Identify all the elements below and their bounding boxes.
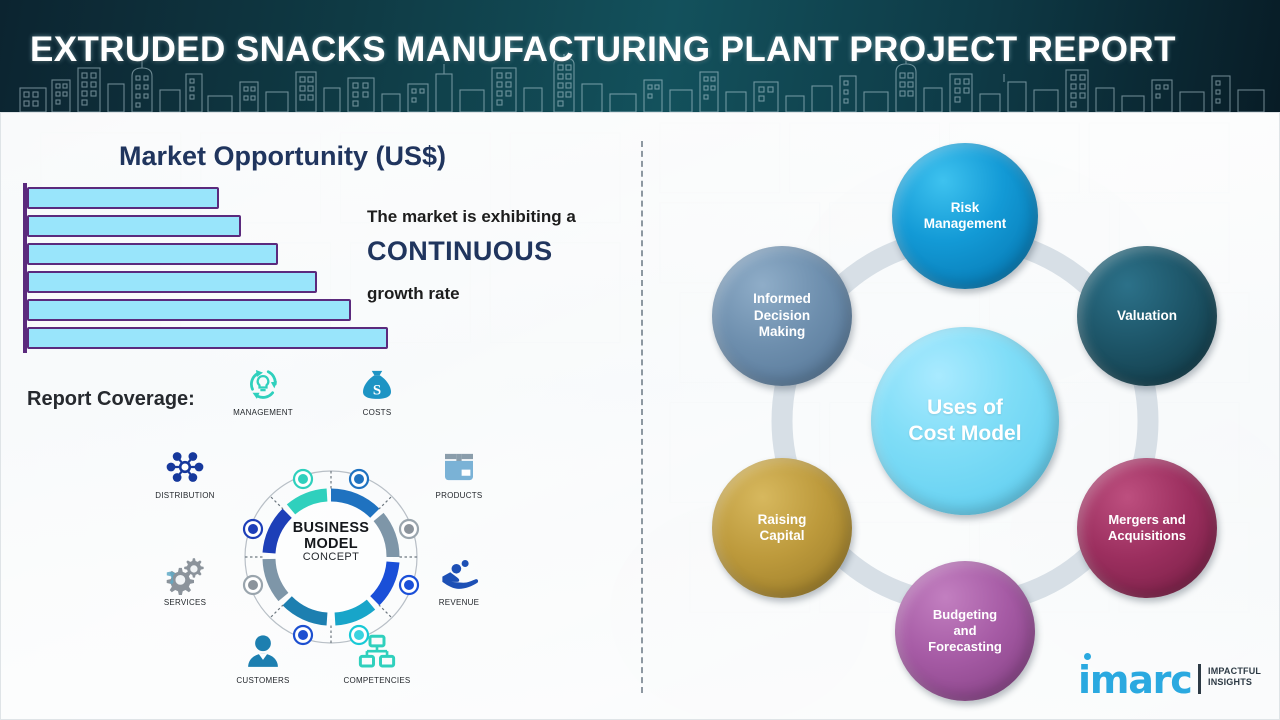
bm-label-distribution: DISTRIBUTION [137, 491, 233, 500]
bm-node-management: MANAGEMENT [215, 363, 311, 417]
bar-1 [27, 187, 219, 209]
imarc-tagline: IMPACTFUL INSIGHTS [1208, 666, 1261, 689]
node-mergers-acquisitions[interactable]: Mergers and Acquisitions [1077, 458, 1217, 598]
growth-text-line3: growth rate [367, 284, 460, 304]
node-informed-decision-making[interactable]: Informed Decision Making [712, 246, 852, 386]
budget-line2: and [953, 623, 976, 638]
gears-icon [164, 553, 206, 595]
bar-4 [27, 271, 317, 293]
bm-label-competencies: COMPETENCIES [329, 676, 425, 685]
business-model-center-text: BUSINESS MODEL CONCEPT [233, 521, 429, 564]
imarc-tagline-line2: INSIGHTS [1208, 677, 1261, 688]
imarc-logo-divider [1198, 664, 1201, 694]
bm-node-distribution: DISTRIBUTION [137, 446, 233, 500]
node-risk-management[interactable]: Risk Management [892, 143, 1038, 289]
node-label-risk-management: Risk Management [924, 200, 1007, 233]
node-label-raising-capital: Raising Capital [758, 512, 807, 545]
node-budgeting-forecasting[interactable]: Budgeting and Forecasting [895, 561, 1035, 701]
imarc-logo[interactable]: imarc IMPACTFUL INSIGHTS [1078, 661, 1192, 699]
informed-line1: Informed [753, 291, 811, 306]
business-model-ring: BUSINESS MODEL CONCEPT [233, 459, 429, 655]
slide-root: EXTRUDED SNACKS MANUFACTURING PLANT PROJ… [0, 0, 1280, 720]
bm-label-customers: CUSTOMERS [215, 676, 311, 685]
market-opportunity-bar-chart [23, 183, 403, 283]
raising-line1: Raising [758, 512, 807, 527]
slide-body: Market Opportunity (US$) The market is e… [0, 112, 1280, 720]
imarc-wordmark: imarc [1078, 661, 1192, 699]
cost-model-diagram: Risk Management Valuation Mergers and Ac… [641, 113, 1280, 720]
node-uses-of-cost-model[interactable]: Uses of Cost Model [871, 327, 1059, 515]
mergers-line1: Mergers and [1108, 512, 1185, 527]
node-label-informed-decision-making: Informed Decision Making [753, 291, 811, 340]
bar-6 [27, 327, 388, 349]
budget-line3: Forecasting [928, 639, 1002, 654]
risk-line1: Risk [951, 200, 980, 215]
bar-2 [27, 215, 241, 237]
bar-3 [27, 243, 278, 265]
imarc-tagline-line1: IMPACTFUL [1208, 666, 1261, 677]
svg-text:S: S [373, 383, 381, 399]
bm-center-line1: BUSINESS [233, 521, 429, 537]
node-valuation[interactable]: Valuation [1077, 246, 1217, 386]
center-line1: Uses of [927, 396, 1003, 419]
informed-line2: Decision [754, 308, 810, 323]
bar-5 [27, 299, 351, 321]
header-banner: EXTRUDED SNACKS MANUFACTURING PLANT PROJ… [0, 0, 1280, 112]
money-bag-icon: S [356, 363, 398, 405]
bm-label-costs: COSTS [329, 408, 425, 417]
node-label-valuation: Valuation [1117, 308, 1177, 324]
node-raising-capital[interactable]: Raising Capital [712, 458, 852, 598]
growth-text-line1: The market is exhibiting a [367, 207, 576, 227]
node-label-budgeting-forecasting: Budgeting and Forecasting [928, 607, 1002, 655]
package-box-icon [438, 446, 480, 488]
page-title: EXTRUDED SNACKS MANUFACTURING PLANT PROJ… [30, 30, 1176, 70]
budget-line1: Budgeting [933, 607, 997, 622]
bm-node-costs: S COSTS [329, 363, 425, 417]
growth-text-emphasis: CONTINUOUS [367, 236, 553, 267]
risk-line2: Management [924, 216, 1007, 231]
business-model-diagram: MANAGEMENT S COSTS [131, 363, 531, 713]
bm-label-services: SERVICES [137, 598, 233, 607]
left-panel: Market Opportunity (US$) The market is e… [1, 113, 641, 720]
bm-node-services: SERVICES [137, 553, 233, 607]
node-label-mergers-acquisitions: Mergers and Acquisitions [1108, 512, 1186, 544]
center-line2: Cost Model [908, 422, 1021, 445]
bm-center-line3: CONCEPT [233, 552, 429, 564]
mergers-line2: Acquisitions [1108, 528, 1186, 543]
market-opportunity-title: Market Opportunity (US$) [119, 141, 446, 172]
hand-coins-icon [438, 553, 480, 595]
bm-center-line2: MODEL [233, 537, 429, 553]
raising-line2: Capital [759, 528, 804, 543]
bm-label-management: MANAGEMENT [215, 408, 311, 417]
informed-line3: Making [759, 324, 806, 339]
recycle-lightbulb-icon [242, 363, 284, 405]
imarc-logo-dot [1084, 653, 1091, 660]
network-nodes-icon [164, 446, 206, 488]
valuation-line1: Valuation [1117, 308, 1177, 323]
node-label-uses-of-cost-model: Uses of Cost Model [908, 395, 1021, 446]
